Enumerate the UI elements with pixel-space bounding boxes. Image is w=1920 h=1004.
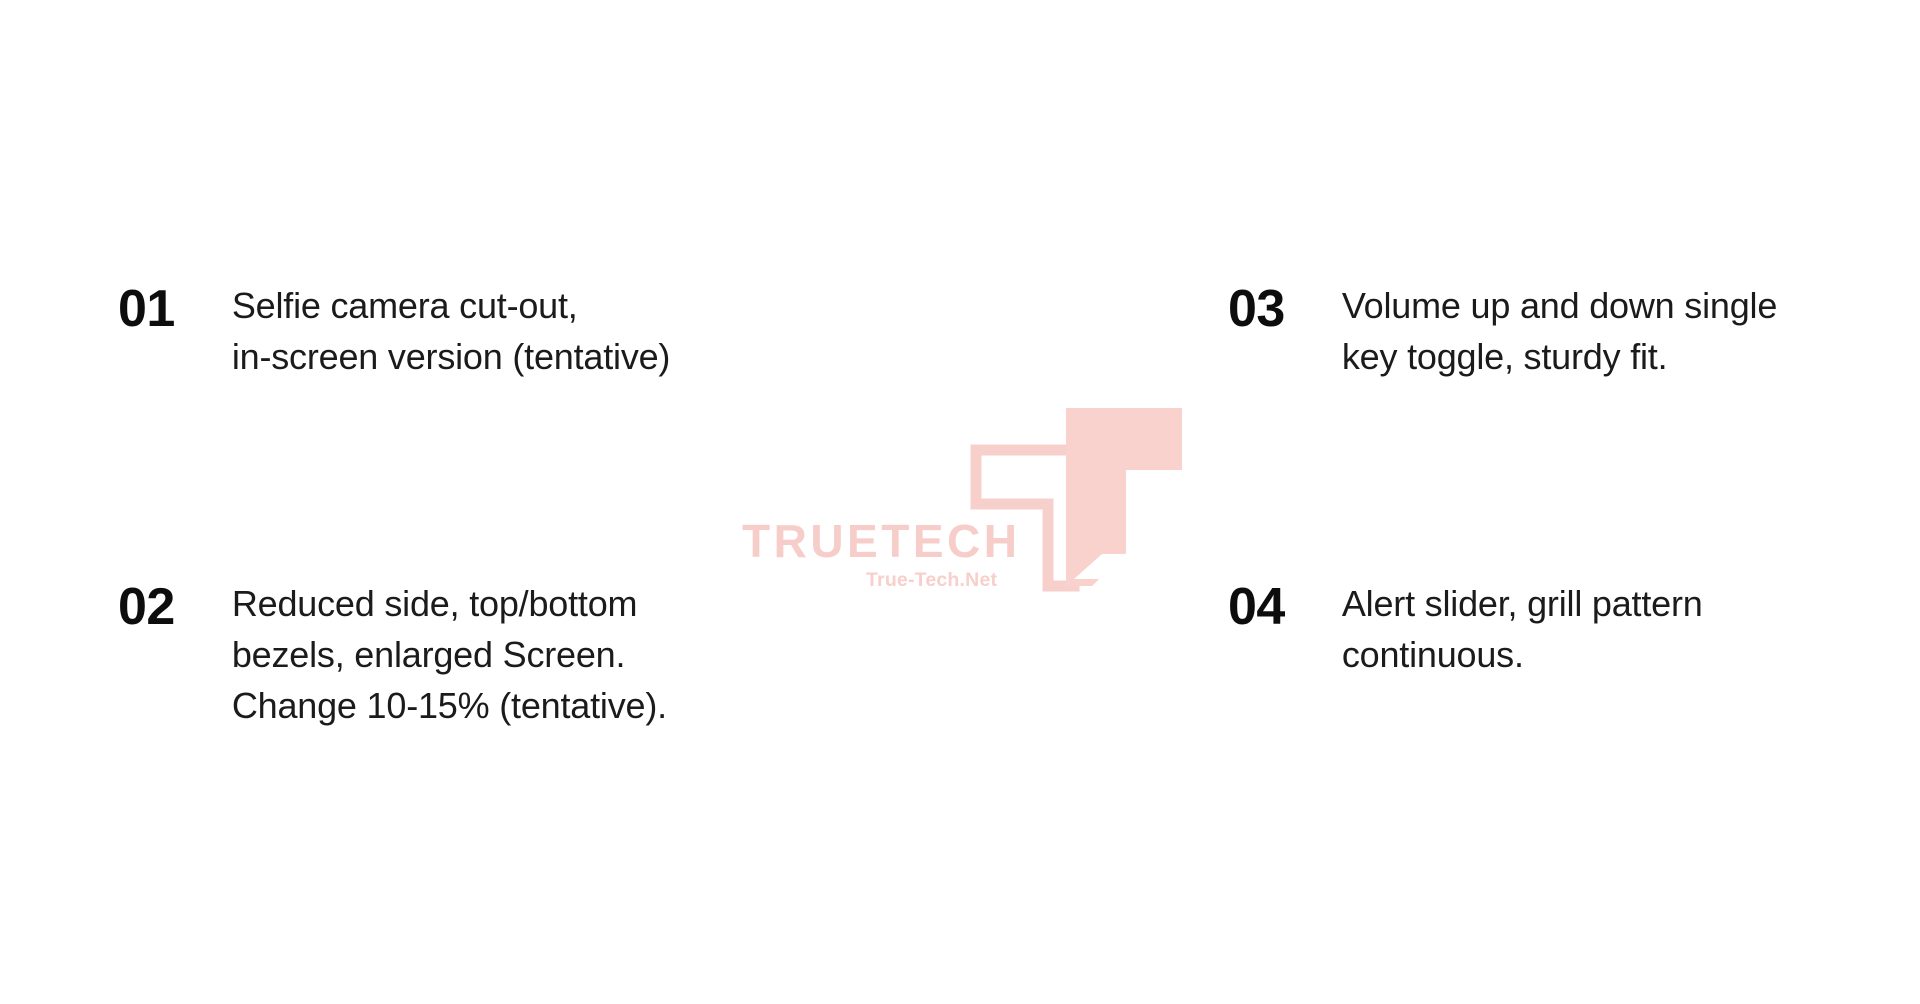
watermark-wordmark: TRUETECH xyxy=(742,518,1020,564)
slide-canvas: TRUETECH True-Tech.Net 01 Selfie camera … xyxy=(0,0,1920,1004)
feature-item-03-text: Volume up and down single key toggle, st… xyxy=(1342,280,1777,382)
feature-item-01-text: Selfie camera cut-out, in-screen version… xyxy=(232,280,670,382)
feature-item-02-number: 02 xyxy=(118,578,175,636)
feature-item-03: 03 Volume up and down single key toggle,… xyxy=(1228,280,1777,382)
feature-item-04: 04 Alert slider, grill pattern continuou… xyxy=(1228,578,1703,680)
feature-item-01-number: 01 xyxy=(118,280,175,338)
feature-item-04-number: 04 xyxy=(1228,578,1285,636)
feature-item-02-text: Reduced side, top/bottom bezels, enlarge… xyxy=(232,578,667,731)
feature-item-02: 02 Reduced side, top/bottom bezels, enla… xyxy=(118,578,667,731)
truetech-watermark: TRUETECH True-Tech.Net xyxy=(742,408,1182,593)
truetech-t-logo-icon xyxy=(970,408,1182,593)
feature-item-03-number: 03 xyxy=(1228,280,1285,338)
watermark-url: True-Tech.Net xyxy=(866,571,997,591)
feature-item-04-text: Alert slider, grill pattern continuous. xyxy=(1342,578,1703,680)
feature-item-01: 01 Selfie camera cut-out, in-screen vers… xyxy=(118,280,670,382)
